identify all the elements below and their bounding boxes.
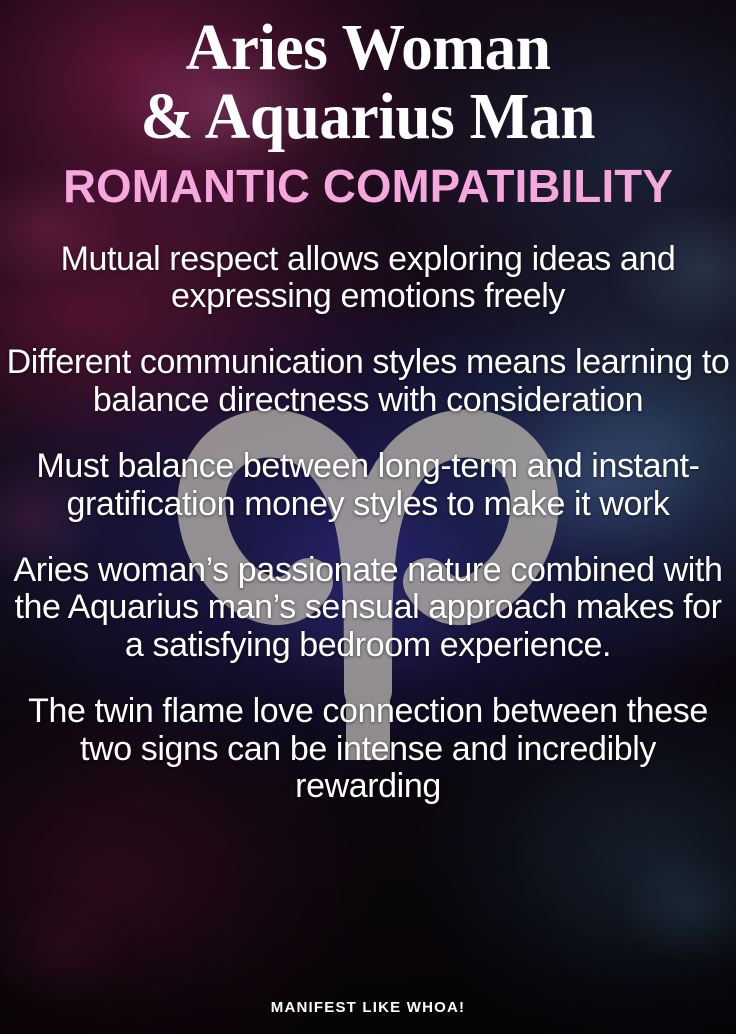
body-paragraph: Mutual respect allows exploring ideas an… [4,241,732,316]
page-subtitle: ROMANTIC COMPATIBILITY [63,163,673,209]
brand-footer: MANIFEST LIKE WHOA! [0,999,736,1016]
body-paragraph: Different communication styles means lea… [4,344,732,419]
body-paragraph: The twin flame love connection between t… [4,693,732,805]
body-paragraph: Aries woman’s passionate nature combined… [4,552,732,664]
poster-canvas: Aries Woman & Aquarius Man ROMANTIC COMP… [0,0,736,1034]
body-text-list: Mutual respect allows exploring ideas an… [4,241,732,806]
body-paragraph: Must balance between long-term and insta… [4,448,732,523]
page-title-line-1: Aries Woman [186,14,551,81]
poster-content: Aries Woman & Aquarius Man ROMANTIC COMP… [0,0,736,1034]
page-title-line-2: & Aquarius Man [141,83,596,150]
